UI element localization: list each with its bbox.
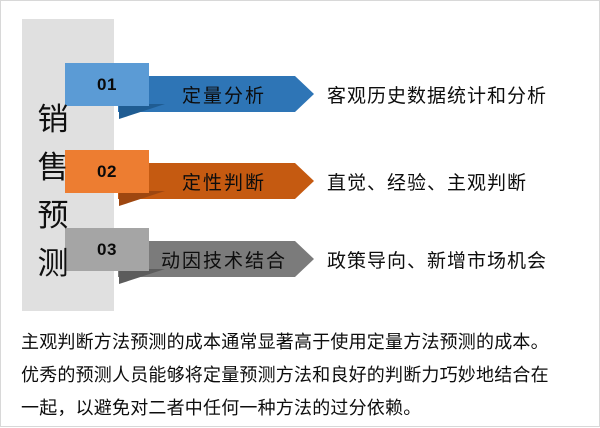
banner-label-2: 定性判断 <box>160 168 272 195</box>
footnote-line-2: 优秀的预测人员能够将定量预测方法和良好的判断力巧妙地结合在 <box>21 359 587 392</box>
description-2: 直觉、经验、主观判断 <box>327 162 527 200</box>
number-label-3: 03 <box>97 240 117 260</box>
footnote-line-3: 一起，以避免对二者中任何一种方法的过分依赖。 <box>21 392 587 425</box>
banner-label-3: 动因技术结合 <box>139 246 293 273</box>
number-label-1: 01 <box>97 75 117 95</box>
process-row-2: 定性判断 02 直觉、经验、主观判断 <box>1 150 600 210</box>
slide-canvas: 销 售 预 测 定量分析 01 客观历史数据统计和分析 定性判断 02 直觉、经… <box>1 1 600 428</box>
banner-label-1: 定量分析 <box>160 81 272 108</box>
number-label-2: 02 <box>97 162 117 182</box>
description-3: 政策导向、新增市场机会 <box>327 240 547 278</box>
footnote-block: 主观判断方法预测的成本通常显著高于使用定量方法预测的成本。 优秀的预测人员能够将… <box>21 326 587 425</box>
footnote-line-1: 主观判断方法预测的成本通常显著高于使用定量方法预测的成本。 <box>21 326 587 359</box>
process-row-3: 动因技术结合 03 政策导向、新增市场机会 <box>1 228 600 288</box>
vertical-title: 销 售 预 测 <box>23 96 83 288</box>
process-row-1: 定量分析 01 客观历史数据统计和分析 <box>1 63 600 123</box>
description-1: 客观历史数据统计和分析 <box>327 75 547 113</box>
